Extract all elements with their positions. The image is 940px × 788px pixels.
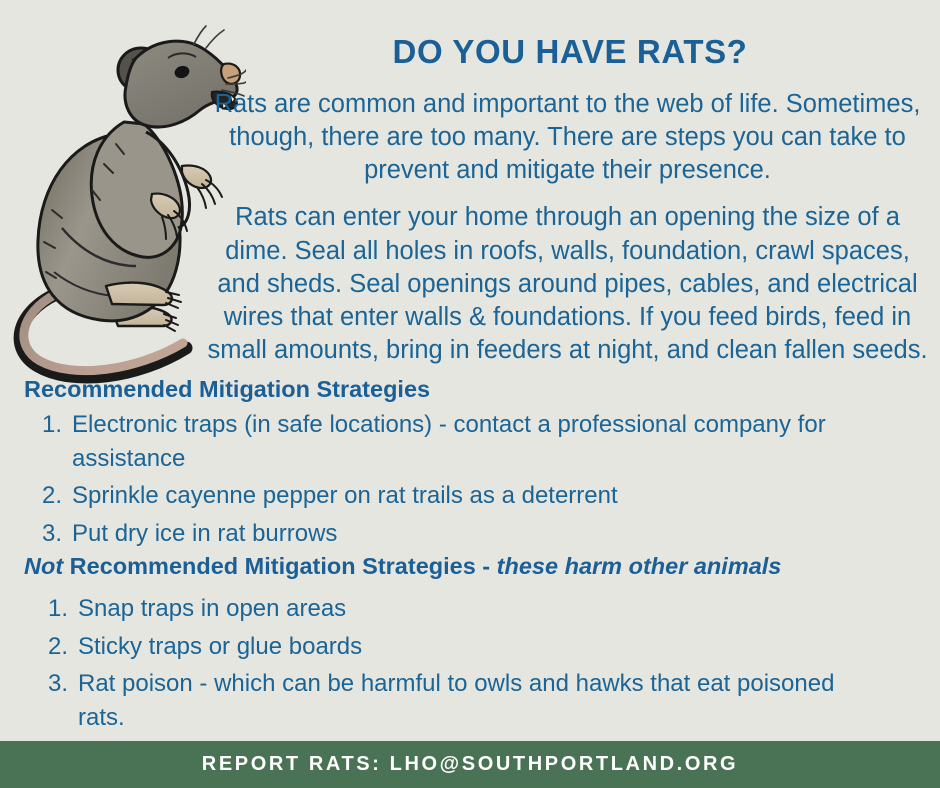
intro-paragraph-1: Rats are common and important to the web… — [205, 88, 930, 187]
rat-front-paw-lower — [151, 194, 187, 239]
not-recommended-list: 1. Snap traps in open areas 2. Sticky tr… — [48, 592, 878, 738]
not-recommended-heading: Not Recommended Mitigation Strategies - … — [24, 552, 924, 580]
recommended-list: 1. Electronic traps (in safe locations) … — [42, 408, 872, 554]
list-item: 3. Rat poison - which can be harmful to … — [48, 667, 878, 734]
rat-tail — [20, 294, 186, 377]
poster-canvas: DO YOU HAVE RATS? Rats are common and im… — [0, 0, 940, 788]
list-item-text: Electronic traps (in safe locations) - c… — [72, 411, 826, 472]
rat-eye — [173, 64, 191, 80]
rat-hind-foot — [112, 307, 171, 326]
list-item: 2. Sticky traps or glue boards — [48, 630, 878, 664]
list-item: 1. Snap traps in open areas — [48, 592, 878, 626]
rat-ear — [118, 48, 164, 92]
not-recommended-heading-not: Not — [24, 553, 63, 579]
not-recommended-heading-tail: these harm other animals — [497, 553, 782, 579]
rat-body — [38, 134, 180, 321]
list-item: 1. Electronic traps (in safe locations) … — [42, 408, 872, 475]
recommended-heading: Recommended Mitigation Strategies — [24, 375, 430, 403]
rat-chest — [91, 122, 182, 257]
list-item-number: 1. — [48, 592, 76, 626]
list-item-number: 2. — [42, 479, 70, 513]
intro-paragraph-2: Rats can enter your home through an open… — [205, 201, 930, 367]
list-item: 3. Put dry ice in rat burrows — [42, 517, 872, 551]
list-item-text: Sprinkle cayenne pepper on rat trails as… — [72, 482, 618, 509]
list-item-number: 2. — [48, 630, 76, 664]
rat-foreleg — [146, 132, 190, 228]
list-item-text: Snap traps in open areas — [78, 595, 346, 622]
list-item-number: 1. — [42, 408, 70, 442]
list-item-text: Rat poison - which can be harmful to owl… — [78, 670, 834, 731]
intro-text-block: Rats are common and important to the web… — [205, 88, 930, 378]
page-title: DO YOU HAVE RATS? — [210, 34, 930, 70]
list-item-number: 3. — [42, 517, 70, 551]
list-item-number: 3. — [48, 667, 76, 701]
list-item-text: Put dry ice in rat burrows — [72, 520, 337, 547]
report-rats-contact[interactable]: REPORT RATS: LHO@SOUTHPORTLAND.ORG — [202, 753, 738, 776]
report-footer-bar: REPORT RATS: LHO@SOUTHPORTLAND.ORG — [0, 741, 940, 788]
list-item: 2. Sprinkle cayenne pepper on rat trails… — [42, 479, 872, 513]
list-item-text: Sticky traps or glue boards — [78, 633, 362, 660]
not-recommended-heading-main: Recommended Mitigation Strategies - — [63, 553, 497, 579]
